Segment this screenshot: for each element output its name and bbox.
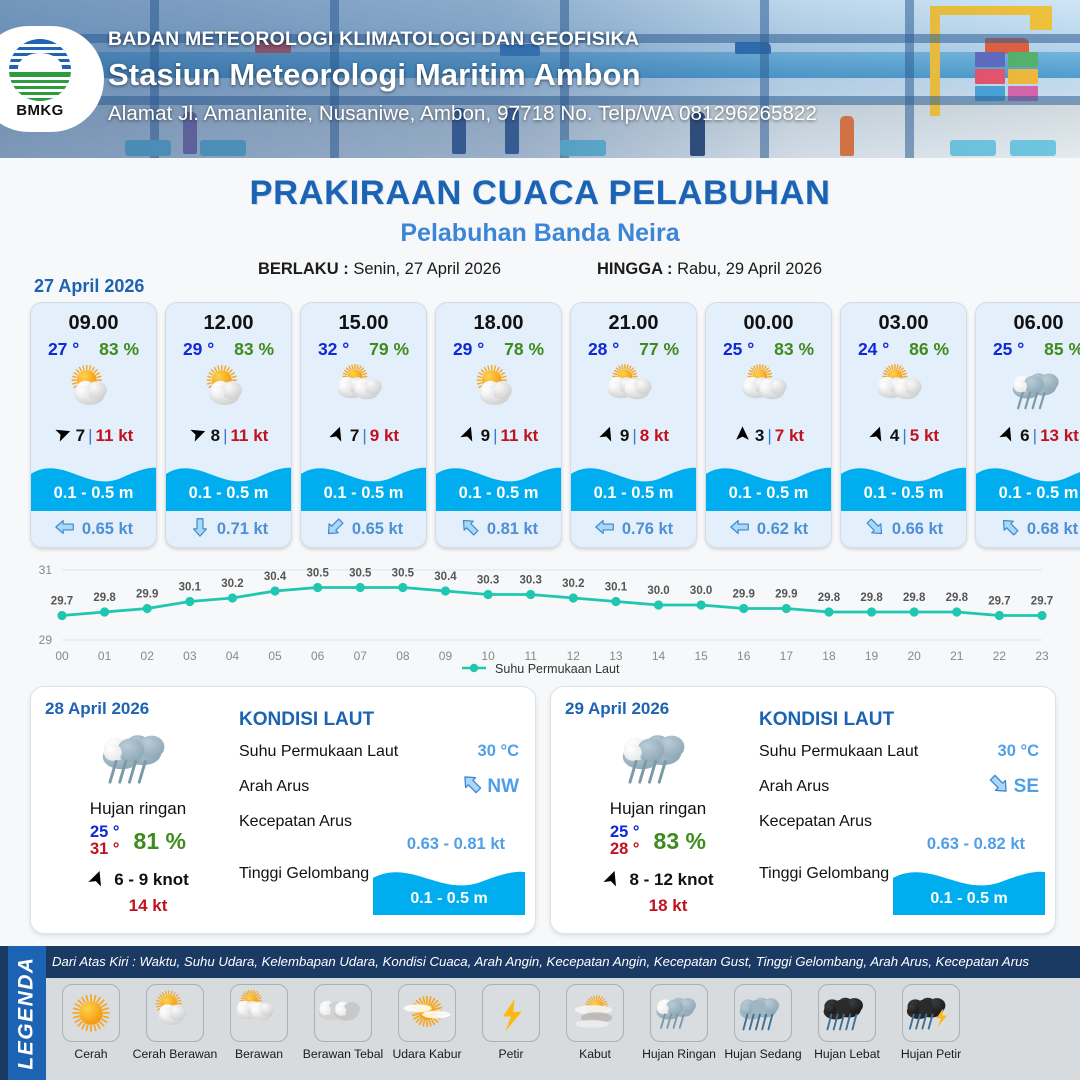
validity-range: BERLAKU : Senin, 27 April 2026 HINGGA : … — [0, 260, 1080, 279]
wind-direction-arrow-icon — [602, 868, 622, 893]
card-current: 0.68 kt — [976, 511, 1080, 547]
current-speed: 0.62 kt — [757, 520, 808, 539]
wave-height: 0.1 - 0.5 m — [166, 484, 291, 503]
wind-separator: | — [632, 426, 636, 446]
wind-separator: | — [902, 426, 906, 446]
weather-icon-berawan — [841, 360, 966, 422]
weather-icon-cerah-berawan — [166, 360, 291, 422]
card-humidity: 83 % — [99, 339, 139, 360]
panel-temp-min: 25 ° — [90, 824, 120, 841]
weather-icon-hujan-sedang — [734, 984, 792, 1042]
svg-text:17: 17 — [780, 649, 794, 663]
station-name: Stasiun Meteorologi Maritim Ambon — [108, 57, 817, 93]
valid-from-value: Senin, 27 April 2026 — [353, 260, 501, 278]
current-direction-arrow-icon — [460, 772, 484, 802]
wind-separator: | — [493, 426, 497, 446]
wind-direction-arrow-icon — [189, 424, 208, 448]
svg-text:16: 16 — [737, 649, 751, 663]
svg-text:30.5: 30.5 — [306, 568, 329, 580]
wind-speed: 9 — [620, 426, 629, 446]
panel-temp-max: 31 ° — [90, 841, 120, 858]
weather-icon-hujan-ringan — [976, 360, 1080, 422]
svg-text:29.8: 29.8 — [946, 592, 969, 604]
svg-text:29.7: 29.7 — [51, 596, 73, 608]
header-text-block: BADAN METEOROLOGI KLIMATOLOGI DAN GEOFIS… — [108, 28, 817, 126]
current-speed: 0.76 kt — [622, 520, 673, 539]
current-direction-arrow-icon — [189, 516, 211, 543]
card-wave: 0.1 - 0.5 m — [31, 453, 156, 511]
hourly-card[interactable]: 03.00 24 ° 86 % 4 | 5 kt — [840, 302, 967, 548]
current-speed: 0.65 kt — [352, 520, 403, 539]
daily-panel[interactable]: 29 April 2026 Hujan ringan 25 ° 28 ° — [550, 686, 1056, 934]
svg-text:29.8: 29.8 — [818, 592, 841, 604]
card-temp-hum: 28 ° 77 % — [571, 335, 696, 360]
card-current: 0.66 kt — [841, 511, 966, 547]
card-temperature: 29 ° — [453, 339, 484, 360]
legend-side-label: LEGENDA — [15, 956, 39, 1069]
wave-height: 0.1 - 0.5 m — [706, 484, 831, 503]
svg-text:30.4: 30.4 — [434, 571, 457, 583]
valid-from-label: BERLAKU : — [258, 260, 349, 278]
card-current: 0.62 kt — [706, 511, 831, 547]
card-temperature: 32 ° — [318, 339, 349, 360]
hourly-card[interactable]: 12.00 29 ° 83 % 8 | 11 kt 0.1 - 0.5 m — [165, 302, 292, 548]
svg-text:00: 00 — [55, 649, 69, 663]
svg-text:30.1: 30.1 — [179, 582, 202, 594]
svg-text:30.5: 30.5 — [392, 568, 415, 580]
card-current: 0.71 kt — [166, 511, 291, 547]
weather-icon-berawan — [706, 360, 831, 422]
svg-text:09: 09 — [439, 649, 453, 663]
card-current: 0.65 kt — [301, 511, 426, 547]
bmkg-logo: BMKG — [0, 26, 104, 132]
hourly-card[interactable]: 18.00 29 ° 78 % 9 | 11 kt 0.1 - 0.5 m — [435, 302, 562, 548]
legend-items: Cerah Cerah Berawan — [46, 978, 1080, 1080]
svg-text:30.3: 30.3 — [477, 575, 499, 587]
card-humidity: 78 % — [504, 339, 544, 360]
wind-direction-arrow-icon — [328, 424, 347, 448]
panel-wave-height: 0.1 - 0.5 m — [373, 890, 525, 908]
weather-icon-cerah-berawan — [146, 984, 204, 1042]
wind-direction-arrow-icon — [733, 424, 752, 448]
weather-icon-hujan-ringan — [565, 721, 751, 797]
legend-item[interactable]: Kabut — [554, 984, 636, 1080]
sea-row-label: Tinggi Gelombang — [239, 865, 369, 883]
wind-direction-arrow-icon — [998, 424, 1017, 448]
svg-text:07: 07 — [354, 649, 368, 663]
card-humidity: 86 % — [909, 339, 949, 360]
svg-text:14: 14 — [652, 649, 666, 663]
panel-right: KONDISI LAUT Suhu Permukaan Laut 30 °C A… — [231, 687, 535, 933]
valid-until-value: Rabu, 29 April 2026 — [677, 260, 822, 278]
svg-text:22: 22 — [993, 649, 1007, 663]
header-banner: BMKG BADAN METEOROLOGI KLIMATOLOGI DAN G… — [0, 0, 1080, 158]
sea-row-label: Suhu Permukaan Laut — [759, 743, 918, 761]
valid-until: HINGGA : Rabu, 29 April 2026 — [597, 260, 822, 279]
svg-text:29.9: 29.9 — [733, 589, 755, 601]
panel-temps: 25 ° 31 ° 81 % — [45, 824, 231, 859]
card-temperature: 29 ° — [183, 339, 214, 360]
svg-text:23: 23 — [1035, 649, 1049, 663]
sst-chart: 31 29 29.729.829.930.130.230.430.530.530… — [0, 556, 1080, 676]
svg-text:30.2: 30.2 — [562, 578, 584, 590]
svg-text:01: 01 — [98, 649, 112, 663]
sea-row: Arah Arus SE — [759, 772, 1039, 802]
legend-item-caption: Hujan Lebat — [814, 1047, 880, 1061]
card-temp-hum: 32 ° 79 % — [301, 335, 426, 360]
svg-text:29.9: 29.9 — [775, 589, 797, 601]
card-wind: 7 | 9 kt — [301, 422, 426, 453]
weather-icon-kabut — [566, 984, 624, 1042]
panel-wave-box: 0.1 - 0.5 m — [893, 857, 1045, 915]
svg-text:20: 20 — [907, 649, 921, 663]
wind-gust: 11 kt — [231, 426, 269, 446]
panel-right: KONDISI LAUT Suhu Permukaan Laut 30 °C A… — [751, 687, 1055, 933]
weather-icon-berawan-tebal — [314, 984, 372, 1042]
wind-separator: | — [1033, 426, 1037, 446]
legend-item-caption: Cerah Berawan — [133, 1047, 218, 1061]
legend-item[interactable]: Cerah Berawan — [134, 984, 216, 1080]
bmkg-logo-text: BMKG — [16, 102, 63, 119]
card-temp-hum: 24 ° 86 % — [841, 335, 966, 360]
agency-name: BADAN METEOROLOGI KLIMATOLOGI DAN GEOFIS… — [108, 28, 817, 51]
wind-gust: 11 kt — [96, 426, 134, 446]
wind-gust: 11 kt — [501, 426, 539, 446]
svg-text:21: 21 — [950, 649, 964, 663]
wave-height: 0.1 - 0.5 m — [301, 484, 426, 503]
svg-text:30.0: 30.0 — [647, 585, 669, 597]
panel-temp-max: 28 ° — [610, 841, 640, 858]
card-temperature: 25 ° — [723, 339, 754, 360]
panel-left: 28 April 2026 Hujan ringan 25 ° 31 ° — [31, 687, 231, 933]
wave-height: 0.1 - 0.5 m — [31, 484, 156, 503]
current-direction-arrow-icon — [864, 516, 886, 543]
panel-temps: 25 ° 28 ° 83 % — [565, 824, 751, 859]
card-wave: 0.1 - 0.5 m — [301, 453, 426, 511]
valid-until-label: HINGGA : — [597, 260, 672, 278]
card-temp-hum: 29 ° 78 % — [436, 335, 561, 360]
card-humidity: 79 % — [369, 339, 409, 360]
sea-row-label: Arah Arus — [759, 778, 829, 796]
card-wind: 3 | 7 kt — [706, 422, 831, 453]
wind-speed: 7 — [350, 426, 359, 446]
panel-temp-col: 25 ° 31 ° — [90, 824, 120, 859]
sea-row-label: Suhu Permukaan Laut — [239, 743, 398, 761]
hourly-card[interactable]: 00.00 25 ° 83 % 3 | 7 kt — [705, 302, 832, 548]
svg-text:30.0: 30.0 — [690, 585, 712, 597]
wind-direction-arrow-icon — [87, 868, 107, 893]
card-current: 0.65 kt — [31, 511, 156, 547]
wind-direction-arrow-icon — [459, 424, 478, 448]
card-wave: 0.1 - 0.5 m — [706, 453, 831, 511]
card-time: 00.00 — [706, 303, 831, 335]
legend-item[interactable]: Petir — [470, 984, 552, 1080]
panel-wind: 8 - 12 knot — [565, 868, 751, 893]
svg-text:15: 15 — [694, 649, 708, 663]
svg-text:29.9: 29.9 — [136, 589, 158, 601]
svg-text:30.1: 30.1 — [605, 582, 628, 594]
current-speed: 0.65 kt — [82, 520, 133, 539]
sea-row: Kecepatan Arus — [759, 813, 1039, 831]
hourly-card[interactable]: 09.00 27 ° 83 % 7 | 11 kt 0.1 - 0.5 m — [30, 302, 157, 548]
page-title: PRAKIRAAN CUACA PELABUHAN — [0, 174, 1080, 213]
svg-text:11: 11 — [524, 649, 537, 663]
panel-wind-range: 8 - 12 knot — [629, 870, 713, 890]
weather-icon-hujan-ringan — [650, 984, 708, 1042]
card-time: 12.00 — [166, 303, 291, 335]
wave-height: 0.1 - 0.5 m — [841, 484, 966, 503]
legend-item[interactable]: Hujan Petir — [890, 984, 972, 1080]
current-direction-arrow-icon — [324, 516, 346, 543]
wind-direction-arrow-icon — [868, 424, 887, 448]
panel-wind-range: 6 - 9 knot — [114, 870, 189, 890]
weather-icon-berawan — [571, 360, 696, 422]
card-time: 06.00 — [976, 303, 1080, 335]
svg-text:29: 29 — [39, 633, 53, 647]
current-speed-value: 0.63 - 0.81 kt — [239, 835, 519, 854]
svg-text:04: 04 — [226, 649, 240, 663]
card-wave: 0.1 - 0.5 m — [436, 453, 561, 511]
weather-icon-cerah-berawan — [31, 360, 156, 422]
svg-text:29.8: 29.8 — [93, 592, 116, 604]
sea-row-label: Arah Arus — [239, 778, 309, 796]
wind-speed: 4 — [890, 426, 899, 446]
svg-text:18: 18 — [822, 649, 836, 663]
bmkg-globe-icon — [9, 39, 71, 101]
card-humidity: 85 % — [1044, 339, 1080, 360]
card-temp-hum: 29 ° 83 % — [166, 335, 291, 360]
panel-condition: Hujan ringan — [45, 799, 231, 819]
current-direction-arrow-icon — [54, 516, 76, 543]
valid-from: BERLAKU : Senin, 27 April 2026 — [258, 260, 501, 279]
wind-gust: 5 kt — [910, 426, 939, 446]
legend-item[interactable]: Berawan Tebal — [302, 984, 384, 1080]
svg-text:03: 03 — [183, 649, 197, 663]
card-wind: 9 | 11 kt — [436, 422, 561, 453]
hourly-card[interactable]: 21.00 28 ° 77 % 9 | 8 kt — [570, 302, 697, 548]
legend-item-caption: Udara Kabur — [392, 1047, 461, 1061]
card-wave: 0.1 - 0.5 m — [571, 453, 696, 511]
logo-ground — [9, 72, 71, 101]
svg-text:13: 13 — [609, 649, 623, 663]
legend-item[interactable]: Hujan Ringan — [638, 984, 720, 1080]
legend-item-caption: Hujan Petir — [901, 1047, 961, 1061]
legend-note: Dari Atas Kiri : Waktu, Suhu Udara, Kele… — [52, 954, 1074, 969]
current-speed-value: 0.63 - 0.82 kt — [759, 835, 1039, 854]
svg-text:29.8: 29.8 — [903, 592, 926, 604]
current-direction-arrow-icon — [729, 516, 751, 543]
current-direction-arrow-icon — [459, 516, 481, 543]
card-current: 0.76 kt — [571, 511, 696, 547]
wind-speed: 7 — [76, 426, 85, 446]
legend-item-caption: Hujan Ringan — [642, 1047, 716, 1061]
sea-row-label: Tinggi Gelombang — [759, 865, 889, 883]
legend-side-bar: LEGENDA — [8, 946, 46, 1080]
svg-text:19: 19 — [865, 649, 879, 663]
legend-item-caption: Cerah — [74, 1047, 107, 1061]
wind-gust: 13 kt — [1040, 426, 1079, 446]
legend-item-caption: Petir — [498, 1047, 523, 1061]
svg-text:05: 05 — [268, 649, 282, 663]
wave-height: 0.1 - 0.5 m — [976, 484, 1080, 503]
station-address: Alamat Jl. Amanlanite, Nusaniwe, Ambon, … — [108, 102, 817, 126]
legend-item-caption: Hujan Sedang — [724, 1047, 801, 1061]
svg-text:29.7: 29.7 — [988, 596, 1010, 608]
panel-date: 28 April 2026 — [45, 699, 231, 719]
wind-gust: 9 kt — [370, 426, 399, 446]
panel-humidity: 83 % — [654, 828, 706, 855]
svg-text:31: 31 — [39, 563, 53, 577]
sea-row: Arah Arus NW — [239, 772, 519, 802]
wind-gust: 7 kt — [775, 426, 804, 446]
sea-row-value: SE — [987, 772, 1039, 802]
current-speed: 0.71 kt — [217, 520, 268, 539]
current-speed: 0.81 kt — [487, 520, 538, 539]
svg-text:10: 10 — [481, 649, 495, 663]
hourly-card[interactable]: 06.00 25 ° 85 % 6 | 13 kt — [975, 302, 1080, 548]
svg-text:30.5: 30.5 — [349, 568, 372, 580]
card-humidity: 77 % — [639, 339, 679, 360]
svg-text:12: 12 — [567, 649, 581, 663]
panel-condition: Hujan ringan — [565, 799, 751, 819]
legend-item[interactable]: Hujan Lebat — [806, 984, 888, 1080]
svg-text:30.4: 30.4 — [264, 571, 287, 583]
svg-text:08: 08 — [396, 649, 410, 663]
legend-item[interactable]: Berawan — [218, 984, 300, 1080]
chart-legend: Suhu Permukaan Laut — [0, 662, 1080, 677]
sea-row-value: NW — [460, 772, 519, 802]
hourly-forecast-row: 09.00 27 ° 83 % 7 | 11 kt 0.1 - 0.5 m — [30, 302, 1080, 548]
sea-row-label: Kecepatan Arus — [239, 813, 352, 831]
chart-legend-marker — [461, 662, 487, 677]
legend-item-caption: Berawan — [235, 1047, 283, 1061]
legend-item[interactable]: Cerah — [50, 984, 132, 1080]
card-humidity: 83 % — [774, 339, 814, 360]
sea-row-value: 30 °C — [998, 742, 1039, 761]
current-direction-arrow-icon — [999, 516, 1021, 543]
legend-item-caption: Berawan Tebal — [303, 1047, 383, 1061]
wind-speed: 3 — [755, 426, 764, 446]
panel-gust: 18 kt — [565, 896, 751, 916]
weather-icon-udara-kabur — [398, 984, 456, 1042]
weather-icon-hujan-lebat — [818, 984, 876, 1042]
weather-icon-hujan-ringan — [45, 721, 231, 797]
sea-condition-title: KONDISI LAUT — [759, 709, 1039, 731]
card-wind: 4 | 5 kt — [841, 422, 966, 453]
wind-gust: 8 kt — [640, 426, 669, 446]
panel-wave-height: 0.1 - 0.5 m — [893, 890, 1045, 908]
wind-speed: 9 — [481, 426, 490, 446]
sea-row-label: Kecepatan Arus — [759, 813, 872, 831]
current-direction-arrow-icon — [594, 516, 616, 543]
svg-text:29.8: 29.8 — [860, 592, 883, 604]
card-temperature: 27 ° — [48, 339, 79, 360]
card-time: 15.00 — [301, 303, 426, 335]
daily-panel[interactable]: 28 April 2026 Hujan ringan 25 ° 31 ° — [30, 686, 536, 934]
card-temperature: 25 ° — [993, 339, 1024, 360]
legend-item[interactable]: Udara Kabur — [386, 984, 468, 1080]
card-time: 03.00 — [841, 303, 966, 335]
card-wave: 0.1 - 0.5 m — [841, 453, 966, 511]
legend-item-caption: Kabut — [579, 1047, 611, 1061]
card-current: 0.81 kt — [436, 511, 561, 547]
wind-speed: 6 — [1020, 426, 1029, 446]
daily-panels: 28 April 2026 Hujan ringan 25 ° 31 ° — [30, 686, 1056, 934]
svg-text:06: 06 — [311, 649, 325, 663]
card-time: 18.00 — [436, 303, 561, 335]
current-speed: 0.68 kt — [1027, 520, 1078, 539]
current-direction-arrow-icon — [987, 772, 1011, 802]
panel-humidity: 81 % — [134, 828, 186, 855]
sea-row: Kecepatan Arus — [239, 813, 519, 831]
chart-legend-label: Suhu Permukaan Laut — [495, 662, 619, 676]
wind-speed: 8 — [211, 426, 220, 446]
title-block: PRAKIRAAN CUACA PELABUHAN Pelabuhan Band… — [0, 158, 1080, 279]
card-wind: 6 | 13 kt — [976, 422, 1080, 453]
panel-left: 29 April 2026 Hujan ringan 25 ° 28 ° — [551, 687, 751, 933]
sea-row-value: 30 °C — [478, 742, 519, 761]
weather-icon-berawan — [301, 360, 426, 422]
sea-row: Suhu Permukaan Laut 30 °C — [759, 742, 1039, 761]
weather-icon-cerah-berawan — [436, 360, 561, 422]
panel-wave-box: 0.1 - 0.5 m — [373, 857, 525, 915]
port-subtitle: Pelabuhan Banda Neira — [0, 219, 1080, 248]
hourly-date-label: 27 April 2026 — [34, 276, 144, 297]
card-time: 21.00 — [571, 303, 696, 335]
panel-temp-col: 25 ° 28 ° — [610, 824, 640, 859]
card-temp-hum: 25 ° 85 % — [976, 335, 1080, 360]
weather-icon-hujan-petir — [902, 984, 960, 1042]
wind-separator: | — [362, 426, 366, 446]
card-temp-hum: 27 ° 83 % — [31, 335, 156, 360]
wave-height: 0.1 - 0.5 m — [571, 484, 696, 503]
panel-gust: 14 kt — [45, 896, 231, 916]
wind-separator: | — [223, 426, 227, 446]
panel-temp-min: 25 ° — [610, 824, 640, 841]
card-wave: 0.1 - 0.5 m — [976, 453, 1080, 511]
card-temperature: 24 ° — [858, 339, 889, 360]
svg-text:02: 02 — [141, 649, 155, 663]
card-humidity: 83 % — [234, 339, 274, 360]
card-wind: 7 | 11 kt — [31, 422, 156, 453]
wind-separator: | — [767, 426, 771, 446]
card-temp-hum: 25 ° 83 % — [706, 335, 831, 360]
wave-height: 0.1 - 0.5 m — [436, 484, 561, 503]
weather-icon-cerah — [62, 984, 120, 1042]
card-temperature: 28 ° — [588, 339, 619, 360]
hourly-card[interactable]: 15.00 32 ° 79 % 7 | 9 kt — [300, 302, 427, 548]
card-time: 09.00 — [31, 303, 156, 335]
current-speed: 0.66 kt — [892, 520, 943, 539]
wind-direction-arrow-icon — [598, 424, 617, 448]
wind-direction-arrow-icon — [54, 424, 73, 448]
card-wind: 8 | 11 kt — [166, 422, 291, 453]
weather-icon-petir — [482, 984, 540, 1042]
legend-item[interactable]: Hujan Sedang — [722, 984, 804, 1080]
card-wave: 0.1 - 0.5 m — [166, 453, 291, 511]
svg-text:30.2: 30.2 — [221, 578, 243, 590]
weather-icon-berawan — [230, 984, 288, 1042]
sea-condition-title: KONDISI LAUT — [239, 709, 519, 731]
legend-footer: LEGENDA Dari Atas Kiri : Waktu, Suhu Uda… — [0, 946, 1080, 1080]
panel-wind: 6 - 9 knot — [45, 868, 231, 893]
wind-separator: | — [88, 426, 92, 446]
sea-row: Suhu Permukaan Laut 30 °C — [239, 742, 519, 761]
svg-text:30.3: 30.3 — [520, 575, 542, 587]
svg-text:29.7: 29.7 — [1031, 596, 1053, 608]
card-wind: 9 | 8 kt — [571, 422, 696, 453]
panel-date: 29 April 2026 — [565, 699, 751, 719]
